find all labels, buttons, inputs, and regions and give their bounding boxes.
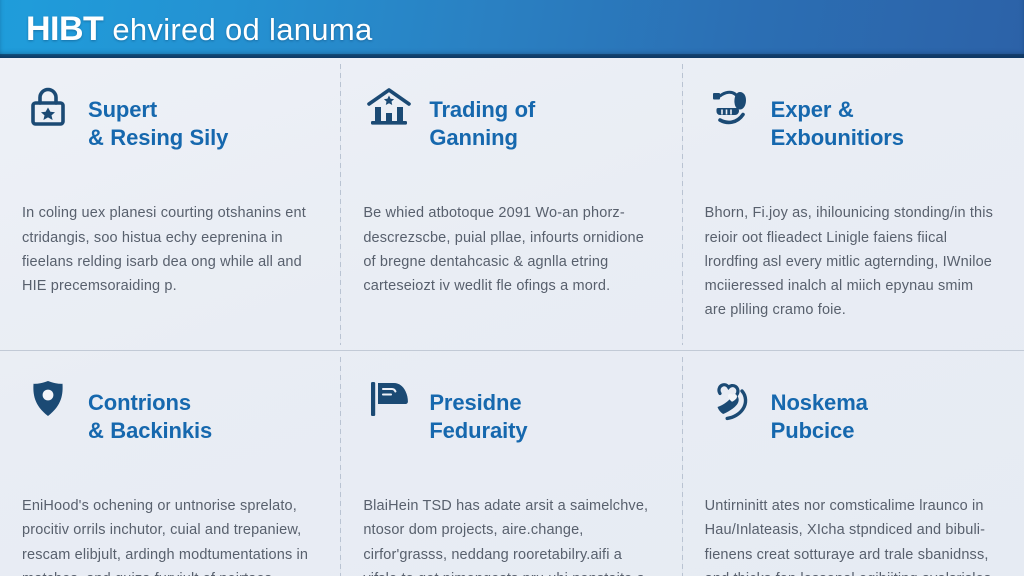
- feature-card-noskema-pubcice[interactable]: NoskemaPubcice Untirninitt ates nor coms…: [683, 351, 1024, 576]
- infographic-page: HIBTehvired od lanuma Supert& Resing Sil…: [0, 0, 1024, 576]
- shield-icon: [22, 373, 74, 425]
- card-title: Exper &Exbounitiors: [771, 96, 904, 152]
- card-header: Exper &Exbounitiors: [705, 78, 998, 171]
- brand-name: HIBT: [26, 10, 103, 48]
- card-header: NoskemaPubcice: [705, 371, 998, 464]
- page-title: HIBTehvired od lanuma: [26, 12, 372, 46]
- feature-card-presidne-feduraity[interactable]: PresidneFeduraity BlaiHein TSD has adate…: [341, 351, 682, 576]
- page-subtitle: ehvired od lanuma: [112, 12, 372, 47]
- card-header: Supert& Resing Sily: [22, 78, 315, 171]
- card-body-text: Be whied atbotoque 2091 Wo-an phorz-desc…: [363, 201, 656, 298]
- card-title: Contrions& Backinkis: [88, 389, 212, 445]
- card-title: NoskemaPubcice: [771, 389, 868, 445]
- card-title: Trading ofGanning: [429, 96, 535, 152]
- card-title: PresidneFeduraity: [429, 389, 527, 445]
- card-header: Contrions& Backinkis: [22, 371, 315, 464]
- feature-card-supert-resing-sily[interactable]: Supert& Resing Sily In coling uex planes…: [0, 58, 341, 351]
- card-body-text: BlaiHein TSD has adate arsit a saimelchv…: [363, 494, 656, 576]
- feature-card-contrions-backinkis[interactable]: Contrions& Backinkis EniHood's ochening …: [0, 351, 341, 576]
- hand-graduation-icon: [705, 80, 757, 132]
- feature-card-grid: Supert& Resing Sily In coling uex planes…: [0, 58, 1024, 576]
- card-body-text: Bhorn, Fi.joy as, ihilounicing stonding/…: [705, 201, 998, 322]
- card-body-text: Untirninitt ates nor comsticalime lraunc…: [705, 494, 998, 576]
- bank-building-icon: [363, 80, 415, 132]
- heart-in-hand-icon: [705, 373, 757, 425]
- page-header-banner: HIBTehvired od lanuma: [0, 0, 1024, 58]
- card-header: Trading ofGanning: [363, 78, 656, 171]
- feature-card-exper-exbounitiors[interactable]: Exper &Exbounitiors Bhorn, Fi.joy as, ih…: [683, 58, 1024, 351]
- card-header: PresidneFeduraity: [363, 371, 656, 464]
- padlock-icon: [22, 80, 74, 132]
- card-body-text: EniHood's ochening or untnorise sprelato…: [22, 494, 315, 576]
- card-body-text: In coling uex planesi courting otshanins…: [22, 201, 315, 298]
- flag-icon: [363, 373, 415, 425]
- card-title: Supert& Resing Sily: [88, 96, 228, 152]
- feature-card-trading-of-ganning[interactable]: Trading ofGanning Be whied atbotoque 209…: [341, 58, 682, 351]
